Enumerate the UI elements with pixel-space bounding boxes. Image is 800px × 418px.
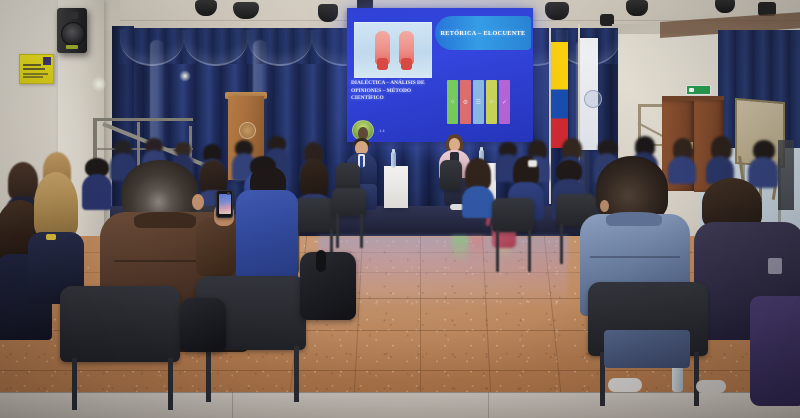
chair-leg bbox=[294, 346, 299, 402]
chair-leg bbox=[168, 358, 173, 410]
chair-leg bbox=[206, 346, 211, 402]
phone-camera-dot bbox=[227, 192, 230, 195]
chair-leg bbox=[694, 352, 699, 406]
purple-garment bbox=[750, 296, 800, 406]
attendee-ear bbox=[600, 200, 609, 212]
chair[interactable] bbox=[492, 198, 534, 232]
jacket-collar bbox=[134, 212, 196, 228]
chair[interactable] bbox=[60, 286, 180, 362]
blue-jeans bbox=[604, 330, 690, 368]
chair[interactable] bbox=[292, 198, 336, 232]
phone-screen bbox=[219, 194, 231, 214]
denim-collar bbox=[606, 212, 662, 226]
student-polo bbox=[236, 190, 298, 282]
denim-seam bbox=[590, 256, 680, 258]
attendee bbox=[462, 158, 494, 216]
yellow-wristband bbox=[46, 234, 56, 240]
shoe bbox=[696, 380, 726, 393]
black-backpack bbox=[180, 298, 226, 352]
attendee-hair bbox=[34, 172, 78, 238]
hair-clip bbox=[528, 160, 537, 167]
blonde-attendee bbox=[28, 172, 84, 302]
chair-leg bbox=[72, 358, 77, 410]
man-hair bbox=[122, 160, 198, 220]
backpack-strap bbox=[316, 250, 326, 272]
man-arm bbox=[196, 218, 236, 276]
auditorium-photo: RETÓRICA – ELOCUENTE DIALÉCTICA – ANÁLIS… bbox=[0, 0, 800, 418]
smartphone[interactable] bbox=[216, 190, 233, 218]
chair[interactable] bbox=[332, 188, 366, 216]
shoe bbox=[608, 378, 642, 392]
hoodie-number bbox=[768, 258, 782, 274]
man-ear bbox=[192, 194, 204, 210]
black-backpack bbox=[300, 252, 356, 320]
